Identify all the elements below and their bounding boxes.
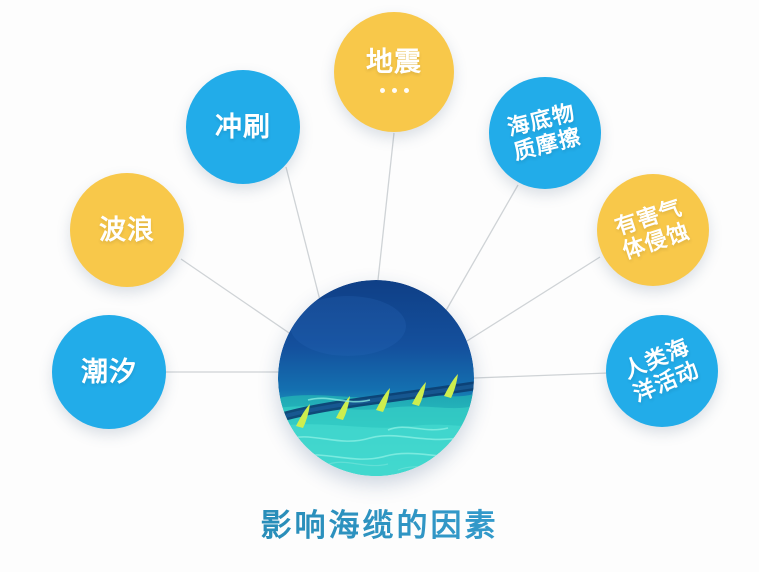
line-to-bo-lang bbox=[181, 259, 295, 337]
line-to-hai-di-wu-zhi bbox=[444, 185, 518, 314]
bubble-label-bo-lang: 波浪 bbox=[93, 215, 161, 245]
bubble-label-you-hai-qi-ti-qin-shi: 有害气 体侵蚀 bbox=[607, 194, 699, 266]
ellipsis-dots-di-zhen bbox=[334, 88, 454, 93]
line-to-ren-lei-hai-yang bbox=[474, 373, 608, 378]
bubble-di-zhen[interactable]: 地震 bbox=[334, 12, 454, 132]
dot bbox=[404, 88, 409, 93]
line-to-chong-shua bbox=[286, 167, 324, 316]
bubble-chong-shua[interactable]: 冲刷 bbox=[186, 70, 300, 184]
page-title: 影响海缆的因素 bbox=[0, 500, 759, 545]
bubble-label-chao-xi: 潮汐 bbox=[75, 357, 143, 387]
bubble-label-hai-di-wu-zhi-mo-ca: 海底物 质摩擦 bbox=[500, 99, 591, 166]
dot bbox=[380, 88, 385, 93]
bubble-bo-lang[interactable]: 波浪 bbox=[70, 173, 184, 287]
underwater-scene-illustration bbox=[278, 280, 474, 476]
bubble-ren-lei-hai-yang-huo-dong[interactable]: 人类海 洋活动 bbox=[606, 315, 718, 427]
infographic-canvas: 影响海缆的因素 冲刷地震海底物 质摩擦有害气 体侵蚀人类海 洋活动波浪潮汐 bbox=[0, 0, 759, 572]
bubble-label-di-zhen: 地震 bbox=[360, 47, 428, 77]
bubble-chao-xi[interactable]: 潮汐 bbox=[52, 315, 166, 429]
dot bbox=[392, 88, 397, 93]
bubble-hai-di-wu-zhi-mo-ca[interactable]: 海底物 质摩擦 bbox=[489, 77, 601, 189]
line-to-di-zhen bbox=[378, 133, 394, 280]
bubble-you-hai-qi-ti-qin-shi[interactable]: 有害气 体侵蚀 bbox=[597, 174, 709, 286]
bubble-label-ren-lei-hai-yang-huo-dong: 人类海 洋活动 bbox=[615, 333, 709, 410]
line-to-you-hai-qi-ti bbox=[467, 257, 600, 341]
submarine-cable-photo bbox=[278, 280, 474, 476]
bubble-label-chong-shua: 冲刷 bbox=[209, 112, 277, 142]
